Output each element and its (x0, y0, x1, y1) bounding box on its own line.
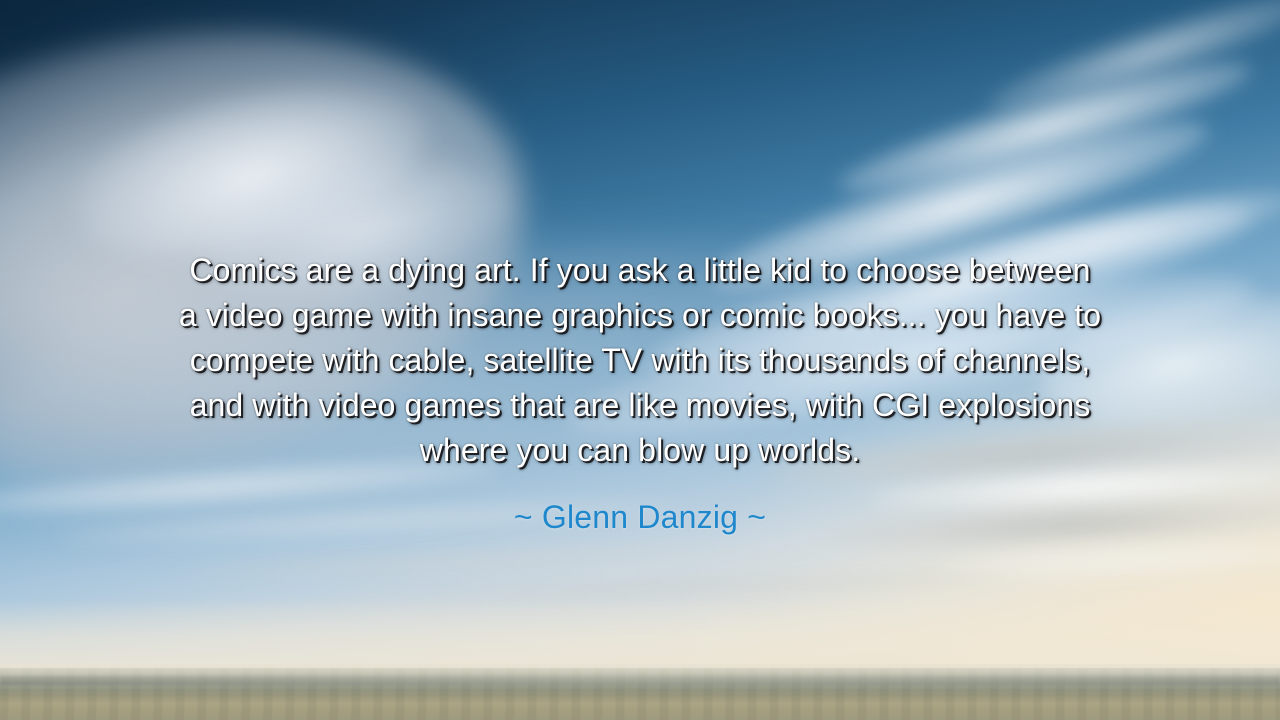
quote-attribution: ~ Glenn Danzig ~ (0, 497, 1280, 537)
quote-text: Comics are a dying art. If you ask a lit… (70, 248, 1210, 473)
ground-atmospheric-haze (0, 664, 1280, 690)
quote-card: Comics are a dying art. If you ask a lit… (0, 0, 1280, 720)
quote-block: Comics are a dying art. If you ask a lit… (0, 248, 1280, 473)
